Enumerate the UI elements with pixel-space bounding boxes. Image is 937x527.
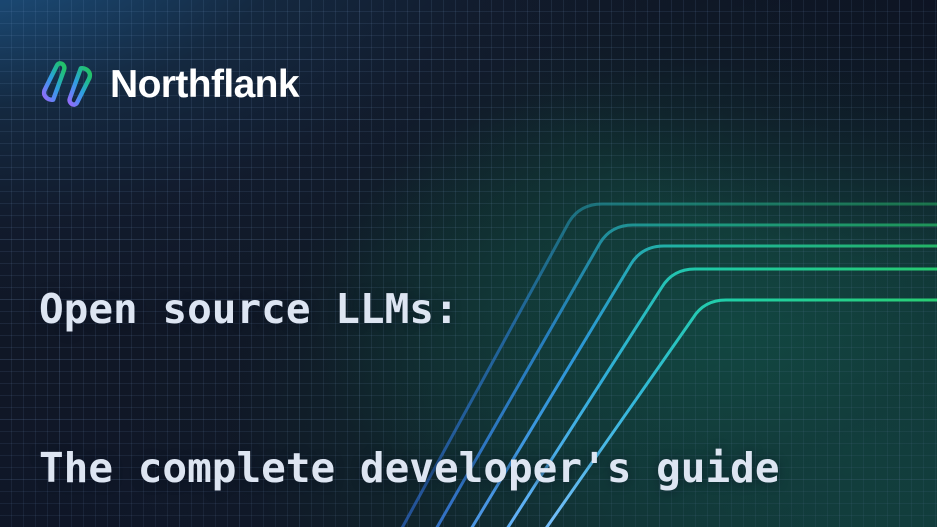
brand-wordmark: Northflank xyxy=(110,65,299,104)
northflank-logo-icon xyxy=(40,57,94,111)
page-title: Open source LLMs: The complete developer… xyxy=(39,177,780,527)
brand-header[interactable]: Northflank xyxy=(40,57,299,111)
hero-banner: Northflank Open source LLMs: The complet… xyxy=(0,0,937,527)
page-title-line-2: The complete developer's guide xyxy=(39,442,780,495)
page-title-line-1: Open source LLMs: xyxy=(39,283,780,336)
